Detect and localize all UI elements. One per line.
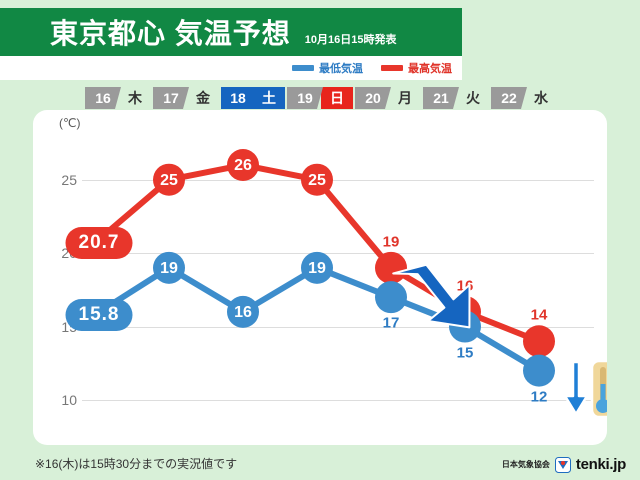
date-tab-day-4: 20 [355,87,391,109]
date-tab-dow-0: 木 [119,87,151,109]
data-point-最高気温-3 [301,164,333,196]
point-label-最高気温-4: 19 [383,233,400,250]
header-band: 東京都心 気温予想 10月16日15時発表 [0,8,462,56]
legend-swatch-high-icon [381,65,403,71]
date-tab-day-6: 22 [491,87,527,109]
brand-name: tenki.jp [576,456,626,473]
legend-swatch-low-icon [292,65,314,71]
date-tab-dow-1: 金 [187,87,219,109]
date-tab-dow-6: 水 [525,87,557,109]
data-point-最低気温-1 [153,252,185,284]
issued-timestamp: 10月16日15時発表 [305,31,397,47]
data-point-最高気温-6 [523,325,555,357]
date-tab-day-3: 19 [287,87,323,109]
point-label-最低気温-6: 12 [531,388,548,405]
series-layer [33,110,607,445]
date-tab-day-2: 18 [221,87,255,109]
tenki-mark-icon [555,457,571,473]
legend-label-high: 最高気温 [408,60,452,76]
date-tab-day-1: 17 [153,87,189,109]
date-tab-day-5: 21 [423,87,459,109]
thermometer-falling-icon [560,358,607,420]
date-tab-day-0: 16 [85,87,121,109]
legend-item-low: 最低気温 [292,60,363,76]
brand-logo: 日本気象協会 tenki.jp [502,456,626,473]
date-tab-bar: 16 木 17 金 18 土 19 日 20 月 21 火 22 水 [85,87,559,109]
point-callout-最高気温-0: 20.7 [66,227,133,259]
point-label-最高気温-6: 14 [531,307,548,324]
date-tab-dow-3: 日 [321,87,353,109]
data-point-最高気温-2 [227,149,259,181]
association-name: 日本気象協会 [502,459,550,470]
temperature-chart: (℃) 25201510 20.725262519161415.81916191… [33,110,607,445]
date-tab-dow-5: 火 [457,87,489,109]
date-tab-dow-4: 月 [389,87,421,109]
data-point-最高気温-1 [153,164,185,196]
down-right-arrow-icon [391,262,477,334]
point-callout-最低気温-0: 15.8 [66,299,133,331]
data-point-最低気温-2 [227,296,259,328]
data-point-最低気温-3 [301,252,333,284]
chart-legend: 最低気温 最高気温 [0,56,462,80]
data-point-最低気温-6 [523,355,555,387]
legend-item-high: 最高気温 [381,60,452,76]
footnote: ※16(木)は15時30分までの実況値です [35,455,237,472]
date-tab-dow-2: 土 [253,87,285,109]
legend-label-low: 最低気温 [319,60,363,76]
point-label-最低気温-5: 15 [457,344,474,361]
page-title: 東京都心 気温予想 [50,12,291,52]
